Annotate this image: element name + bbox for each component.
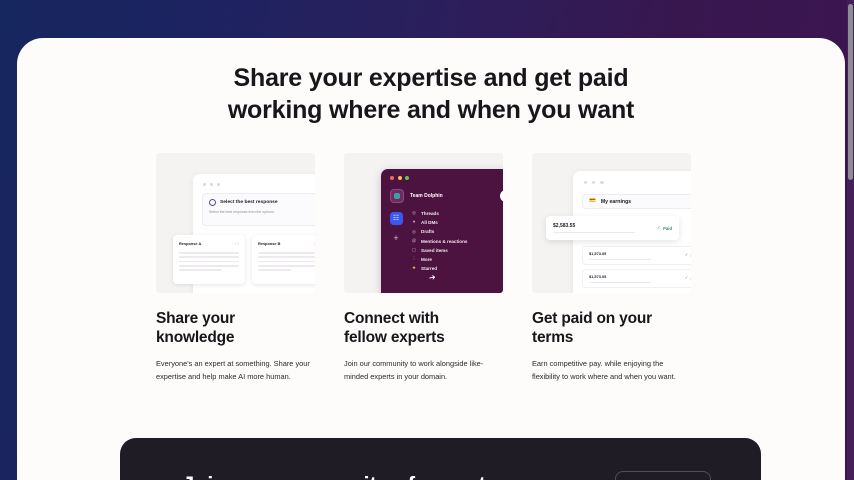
response-b-header: Response B ☐ xyxy=(252,235,315,246)
get-started-button[interactable]: Get started xyxy=(615,471,711,480)
window-traffic-lights-icon: ← xyxy=(381,169,503,180)
earnings-amount: $2,583.55 xyxy=(553,223,635,229)
feature-title-line-1: Share your xyxy=(156,310,235,327)
nav-item-more[interactable]: ⋮ More xyxy=(411,257,503,262)
response-picker-window: Select the best response Select the best… xyxy=(193,174,315,293)
nav-label: More xyxy=(421,257,432,262)
bookmark-icon: ▢ xyxy=(411,248,417,253)
feature-media-select-response: Select the best response Select the best… xyxy=(156,153,315,293)
nav-label: Saved items xyxy=(421,248,448,253)
feature-media-team-chat: ← Team Dolphin ☷ + ◎ xyxy=(344,153,503,293)
select-response-subtitle: Select the best response from the option… xyxy=(203,206,315,214)
nav-item-starred[interactable]: ★ Starred xyxy=(411,266,503,271)
earnings-amount-block: $1,573.05 xyxy=(589,251,651,260)
team-avatar xyxy=(390,189,404,203)
nav-item-mentions[interactable]: @ Mentions & reactions xyxy=(411,239,503,244)
at-mention-icon: @ xyxy=(411,239,417,244)
progress-bar xyxy=(553,232,635,234)
response-a-header: Response A ☐ xyxy=(173,235,245,246)
response-b-placeholder-lines xyxy=(252,246,315,271)
select-response-panel: Select the best response Select the best… xyxy=(202,193,315,226)
feature-card-connect-experts: ← Team Dolphin ☷ + ◎ xyxy=(344,153,503,383)
chat-bubble-icon: ● xyxy=(411,220,417,225)
earnings-header: 💳 My earnings xyxy=(582,194,691,209)
feature-body-connect-experts: Join our community to work alongside lik… xyxy=(344,358,503,383)
response-b-label: Response B xyxy=(258,241,281,246)
status-badge-paid: ✓ Paid xyxy=(657,226,672,231)
team-chat-body: ☷ + ◎ Threads ● All DMs xyxy=(381,203,503,271)
progress-bar xyxy=(589,259,651,260)
status-badge-paid: ✓ Paid xyxy=(685,254,691,258)
response-card-b[interactable]: Response B ☐ xyxy=(252,235,315,284)
cta-title: Join our community of experts xyxy=(182,472,498,480)
feature-body-get-paid: Earn competitive pay. while enjoying the… xyxy=(532,358,691,383)
cta-panel: Join our community of experts Get starte… xyxy=(120,438,761,480)
page-title-line-1: Share your expertise and get paid xyxy=(234,64,629,92)
earnings-row-primary[interactable]: $2,583.55 ✓ Paid xyxy=(546,216,679,240)
landing-page-card: Share your expertise and get paid workin… xyxy=(17,38,845,480)
earnings-window: 💳 My earnings $2,583.55 ✓ Paid xyxy=(573,171,691,293)
earnings-amount-block: $1,573.05 xyxy=(589,274,651,283)
feature-title-line-2: fellow experts xyxy=(344,329,445,346)
earnings-amount: $1,573.05 xyxy=(589,274,651,279)
chat-nav-list: ◎ Threads ● All DMs ◎ Drafts xyxy=(411,211,503,271)
nav-item-all-dms[interactable]: ● All DMs xyxy=(411,220,503,225)
feature-title-line-1: Get paid on your xyxy=(532,310,652,327)
nav-item-threads[interactable]: ◎ Threads xyxy=(411,211,503,216)
nav-item-saved-items[interactable]: ▢ Saved items xyxy=(411,248,503,253)
page-title: Share your expertise and get paid workin… xyxy=(17,62,845,126)
nav-label: Starred xyxy=(421,266,437,271)
hero-section: Share your expertise and get paid workin… xyxy=(17,38,845,126)
feature-media-earnings: 💳 My earnings $2,583.55 ✓ Paid xyxy=(532,153,691,293)
response-a-label: Response A xyxy=(179,241,201,246)
scrollbar-thumb[interactable] xyxy=(848,4,853,180)
threads-icon: ◎ xyxy=(411,211,417,216)
feature-body-share-knowledge: Everyone's an expert at something. Share… xyxy=(156,358,315,383)
check-circle-icon: ✓ xyxy=(685,254,688,258)
response-a-placeholder-lines xyxy=(173,246,245,271)
wallet-icon: 💳 xyxy=(589,199,596,205)
nav-item-drafts[interactable]: ◎ Drafts xyxy=(411,229,503,234)
feature-title-get-paid: Get paid on your terms xyxy=(532,310,691,347)
copy-icon[interactable]: ☐ xyxy=(314,242,315,246)
mouse-cursor-icon: ➔ xyxy=(428,273,436,282)
feature-card-share-knowledge: Select the best response Select the best… xyxy=(156,153,315,383)
nav-label: Mentions & reactions xyxy=(421,239,467,244)
scrollbar-track[interactable] xyxy=(847,0,854,480)
feature-title-line-2: knowledge xyxy=(156,329,234,346)
nav-label: Drafts xyxy=(421,229,434,234)
team-header: Team Dolphin xyxy=(381,180,503,203)
status-badge-paid: ✓ Paid xyxy=(685,277,691,281)
feature-title-share-knowledge: Share your knowledge xyxy=(156,310,315,347)
check-circle-icon: ✓ xyxy=(657,226,661,231)
more-icon: ⋮ xyxy=(411,257,417,262)
feature-title-line-1: Connect with xyxy=(344,310,439,327)
progress-bar xyxy=(589,282,651,283)
feature-row: Select the best response Select the best… xyxy=(17,153,845,383)
check-circle-icon: ✓ xyxy=(685,277,688,281)
nav-label: Threads xyxy=(421,211,439,216)
status-label: Paid xyxy=(663,226,672,231)
window-dots-icon xyxy=(584,181,604,184)
drafts-icon: ◎ xyxy=(411,230,417,235)
team-chat-window: ← Team Dolphin ☷ + ◎ xyxy=(381,169,503,293)
earnings-amount-block: $2,583.55 xyxy=(553,223,635,234)
window-dots-icon xyxy=(203,183,220,186)
radio-circle-icon xyxy=(209,199,216,206)
earnings-row[interactable]: $1,573.05 ✓ Paid xyxy=(582,269,691,288)
select-response-title: Select the best response xyxy=(220,200,278,205)
earnings-amount: $1,573.05 xyxy=(589,251,651,256)
nav-label: All DMs xyxy=(421,220,438,225)
app-icon[interactable]: ☷ xyxy=(390,212,403,225)
team-name: Team Dolphin xyxy=(410,193,494,199)
app-rail: ☷ + xyxy=(381,211,411,271)
star-icon: ★ xyxy=(411,266,417,271)
response-card-a[interactable]: Response A ☐ xyxy=(173,235,245,284)
feature-title-connect-experts: Connect with fellow experts xyxy=(344,310,503,347)
feature-title-line-2: terms xyxy=(532,329,573,346)
feature-card-get-paid: 💳 My earnings $2,583.55 ✓ Paid xyxy=(532,153,691,383)
copy-icon[interactable]: ☐ xyxy=(235,242,239,246)
page-title-line-2: working where and when you want xyxy=(228,96,634,124)
earnings-row[interactable]: $1,573.05 ✓ Paid xyxy=(582,246,691,265)
add-icon[interactable]: + xyxy=(393,234,398,243)
compose-icon[interactable] xyxy=(500,190,503,202)
select-response-header: Select the best response xyxy=(203,194,315,206)
earnings-title: My earnings xyxy=(601,199,631,205)
